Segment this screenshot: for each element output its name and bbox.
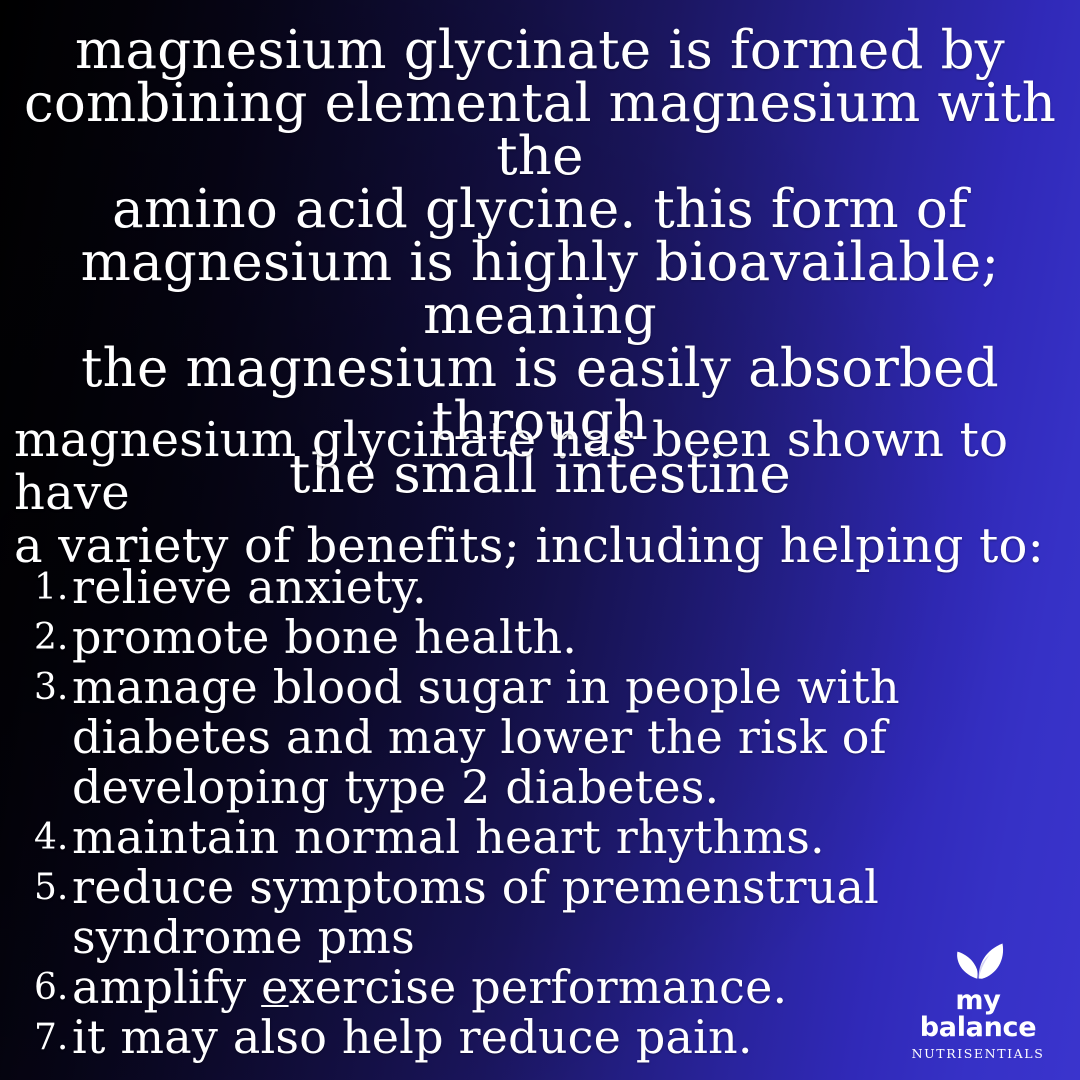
list-marker: 2. xyxy=(34,612,70,664)
list-marker: 7. xyxy=(34,1012,70,1064)
list-marker: 5. xyxy=(34,862,70,914)
list-item: 1. relieve anxiety. xyxy=(34,562,1060,612)
underlined-letter: e xyxy=(261,960,288,1014)
list-marker: 4. xyxy=(34,812,70,864)
list-item: 3. manage blood sugar in people with dia… xyxy=(34,662,1060,812)
logo-tagline: NUTRISENTIALS xyxy=(898,1048,1058,1061)
list-marker: 3. xyxy=(34,662,70,714)
list-item-text: promote bone health. xyxy=(72,612,1060,662)
list-item-text: relieve anxiety. xyxy=(72,562,1060,612)
list-item-text: maintain normal heart rhythms. xyxy=(72,812,1060,862)
slide-canvas: magnesium glycinate is formed by combini… xyxy=(0,0,1080,1080)
two-leaf-icon xyxy=(948,933,1008,981)
logo-wordmark: my balance xyxy=(898,987,1058,1041)
lead-in-paragraph: magnesium glycinate has been shown to ha… xyxy=(14,414,1050,573)
list-marker: 1. xyxy=(34,562,70,614)
list-marker: 6. xyxy=(34,962,70,1014)
list-item: 2. promote bone health. xyxy=(34,612,1060,662)
list-item-text: manage blood sugar in people with diabet… xyxy=(72,662,1060,812)
brand-logo: my balance NUTRISENTIALS xyxy=(898,933,1058,1061)
list-item: 4. maintain normal heart rhythms. xyxy=(34,812,1060,862)
